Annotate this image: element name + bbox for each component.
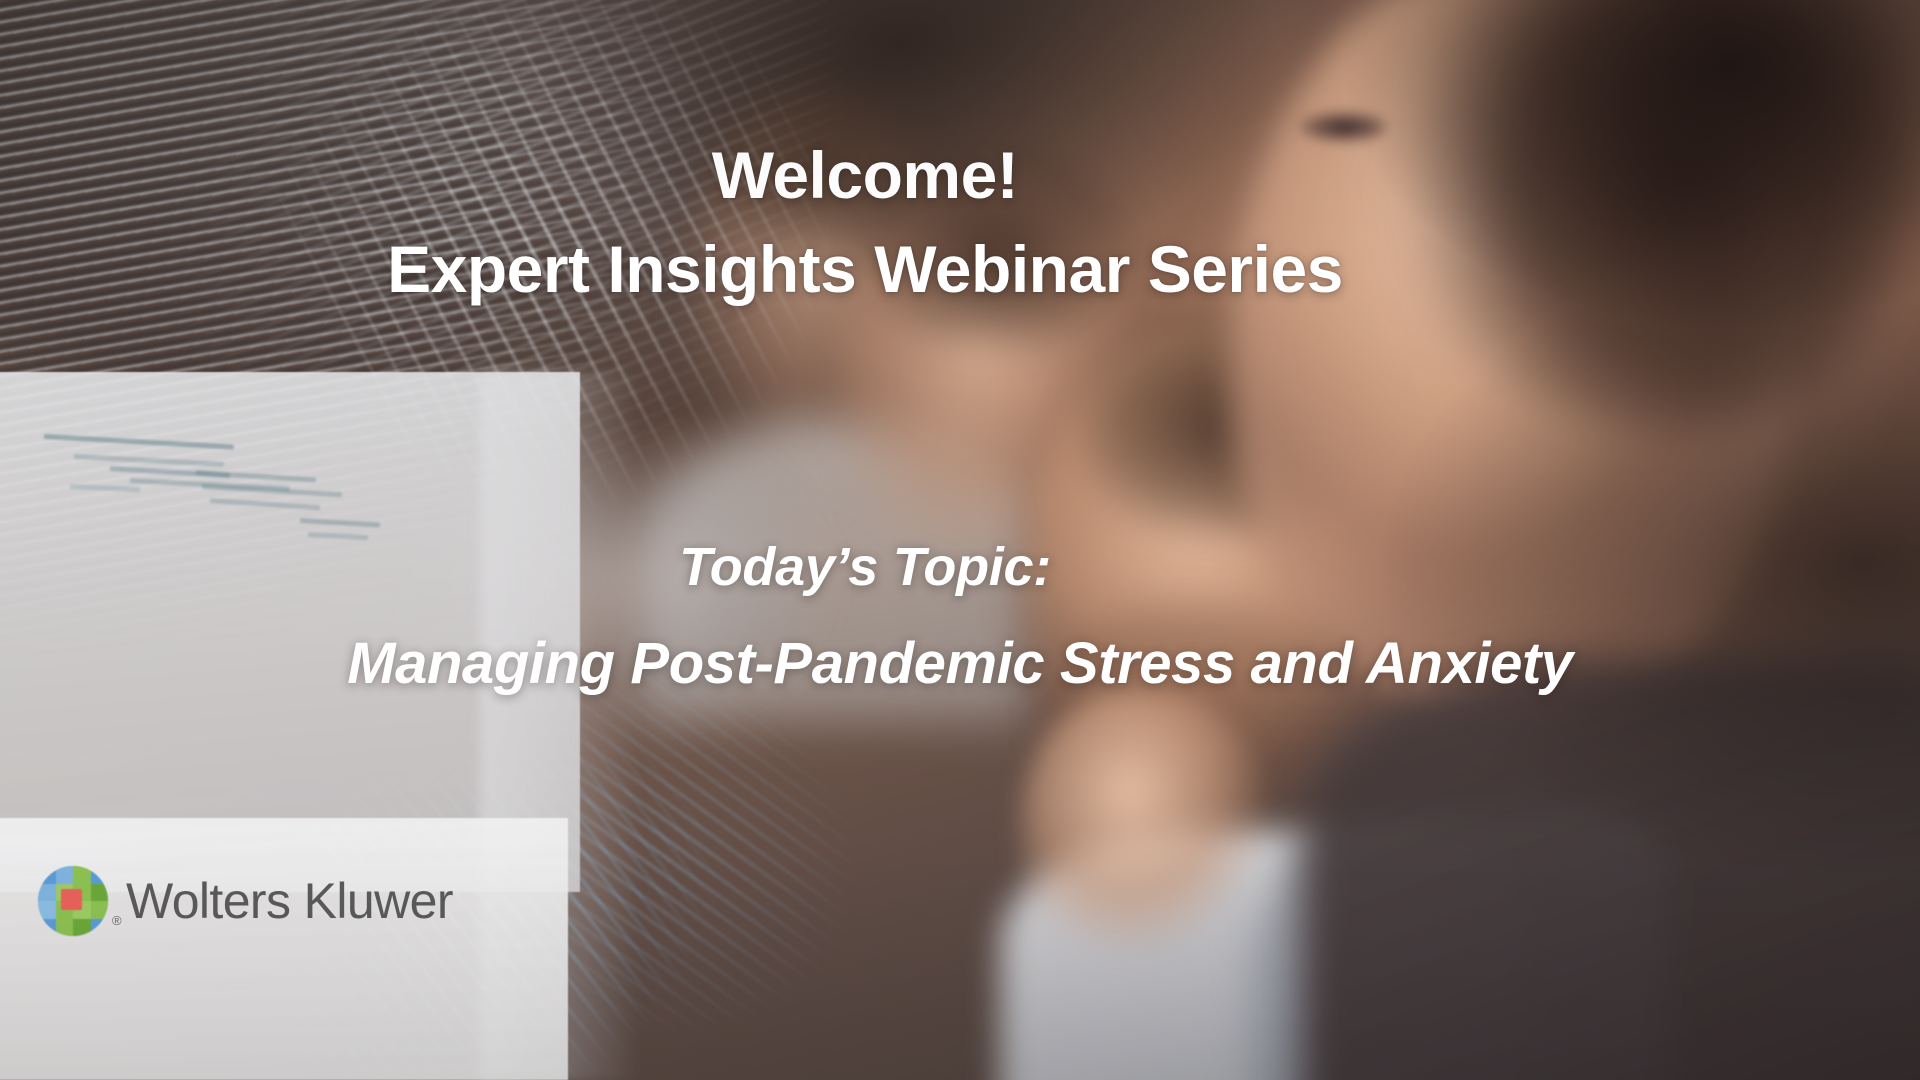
todays-topic-label: Today’s Topic: (170, 534, 1560, 600)
webinar-title-slide: Welcome! Expert Insights Webinar Series … (0, 0, 1920, 1080)
headline-welcome: Welcome! (170, 136, 1560, 214)
topic-title: Managing Post-Pandemic Stress and Anxiet… (60, 628, 1860, 700)
headline-webinar-series: Expert Insights Webinar Series (170, 230, 1560, 308)
wolters-kluwer-logo: Wolters Kluwer ® (38, 866, 453, 936)
wolters-kluwer-wordmark: Wolters Kluwer (126, 873, 453, 929)
wolters-kluwer-globe-icon (38, 866, 108, 936)
registered-trademark-mark: ® (112, 913, 122, 928)
